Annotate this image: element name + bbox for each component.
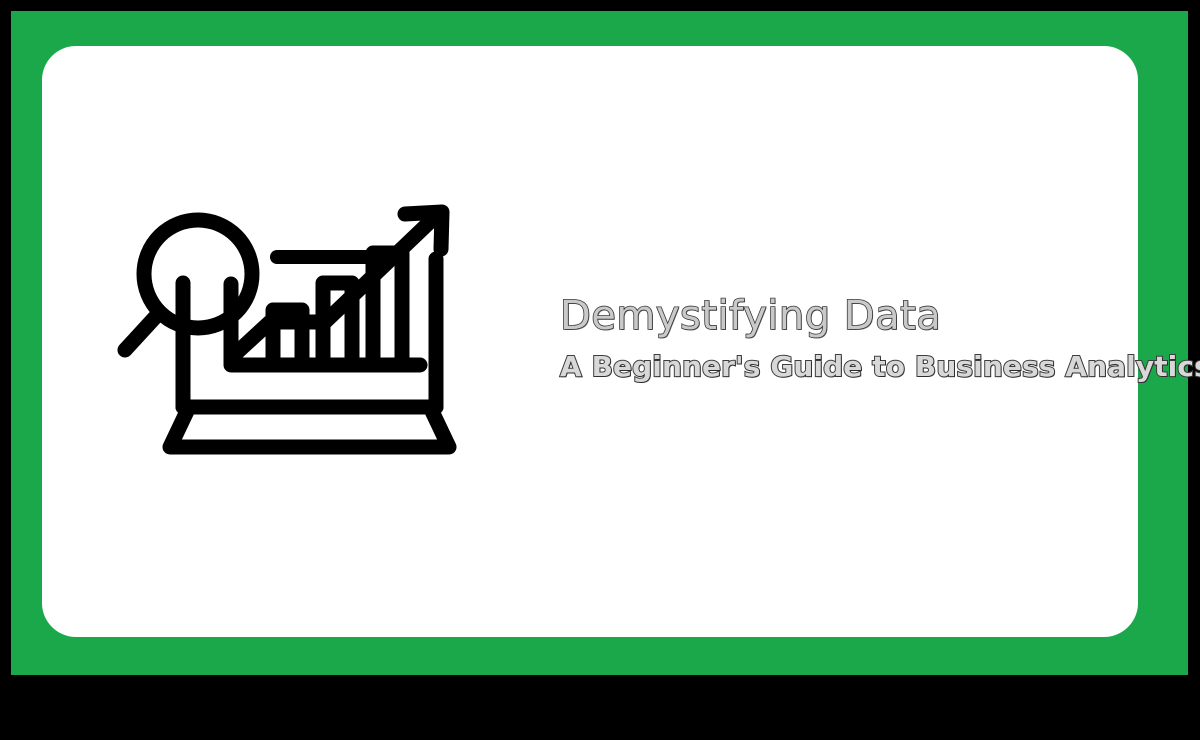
page-title: Demystifying Data bbox=[560, 291, 1120, 341]
heading-text-block: Demystifying Data A Beginner's Guide to … bbox=[560, 291, 1120, 387]
data-analytics-laptop-icon bbox=[105, 195, 507, 482]
magnifier-handle-icon bbox=[125, 313, 159, 350]
page-subtitle: A Beginner's Guide to Business Analytics bbox=[560, 347, 1120, 387]
white-content-card: Demystifying Data A Beginner's Guide to … bbox=[42, 46, 1138, 637]
card-content-row: Demystifying Data A Beginner's Guide to … bbox=[42, 46, 1138, 637]
